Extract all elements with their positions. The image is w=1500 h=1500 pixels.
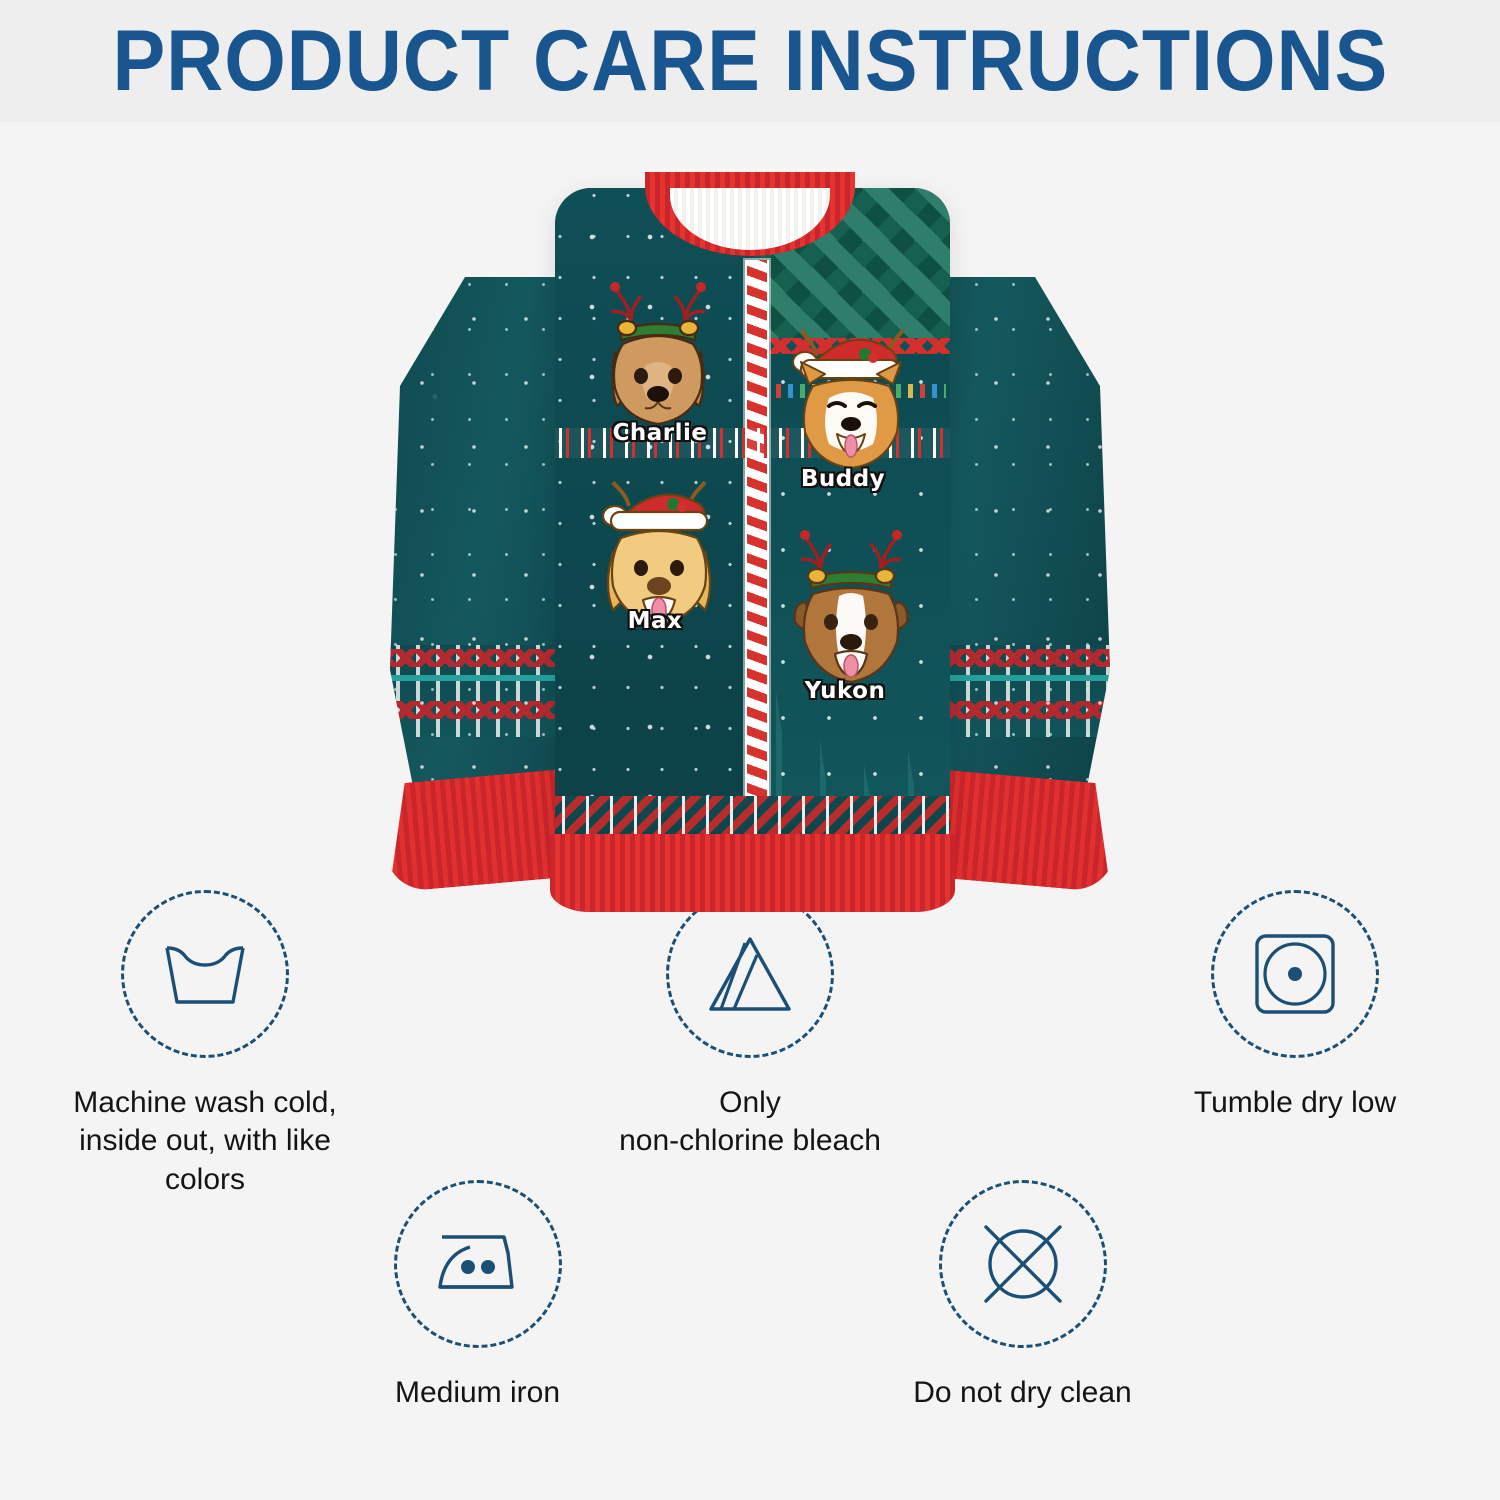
machine-wash-cold-icon bbox=[159, 936, 251, 1012]
labrador-illustration bbox=[573, 266, 748, 431]
care-label-dry-clean: Do not dry clean bbox=[913, 1374, 1131, 1412]
care-icon-circle bbox=[394, 1180, 562, 1348]
care-icon-circle bbox=[121, 890, 289, 1058]
care-item-machine-wash: Machine wash cold, inside out, with like… bbox=[40, 890, 370, 1199]
care-instructions-section: Machine wash cold, inside out, with like… bbox=[0, 890, 1500, 1500]
product-image: Charlie bbox=[0, 122, 1500, 882]
do-not-dry-clean-icon bbox=[978, 1219, 1068, 1309]
header-band: PRODUCT CARE INSTRUCTIONS bbox=[0, 0, 1500, 122]
care-item-tumble-dry: Tumble dry low bbox=[1130, 890, 1460, 1199]
non-chlorine-bleach-icon bbox=[705, 933, 795, 1015]
dog-name-tag-max: Max bbox=[628, 608, 683, 634]
sweater-illustration: Charlie bbox=[390, 182, 1110, 872]
sweater-hem-ribbing bbox=[550, 834, 955, 912]
jack-russell-illustration bbox=[765, 516, 940, 691]
dog-portrait-buddy bbox=[769, 306, 934, 471]
care-icon-circle bbox=[939, 1180, 1107, 1348]
care-icon-circle bbox=[1211, 890, 1379, 1058]
sweater-body: Charlie bbox=[555, 188, 950, 858]
shiba-inu-illustration bbox=[769, 306, 934, 471]
care-item-iron: Medium iron bbox=[313, 1180, 643, 1412]
care-row-2: Medium iron Do not dry clean bbox=[0, 1180, 1500, 1412]
dog-portrait-yukon bbox=[765, 516, 940, 691]
care-label-iron: Medium iron bbox=[395, 1374, 560, 1412]
dog-name-tag-charlie: Charlie bbox=[613, 420, 708, 446]
care-label-bleach: Only non-chlorine bleach bbox=[619, 1084, 881, 1161]
sweater-panel-right bbox=[760, 188, 950, 798]
dog-name-tag-buddy: Buddy bbox=[801, 466, 885, 492]
care-item-bleach: Only non-chlorine bleach bbox=[585, 890, 915, 1199]
page-title: PRODUCT CARE INSTRUCTIONS bbox=[112, 18, 1388, 104]
care-row-1: Machine wash cold, inside out, with like… bbox=[0, 890, 1500, 1199]
dog-name-tag-yukon: Yukon bbox=[805, 678, 886, 704]
care-item-dry-clean: Do not dry clean bbox=[858, 1180, 1188, 1412]
medium-iron-icon bbox=[430, 1229, 526, 1299]
care-label-tumble-dry: Tumble dry low bbox=[1194, 1084, 1396, 1122]
care-icon-circle bbox=[666, 890, 834, 1058]
tumble-dry-low-icon bbox=[1253, 932, 1337, 1016]
dog-portrait-charlie bbox=[573, 266, 748, 431]
